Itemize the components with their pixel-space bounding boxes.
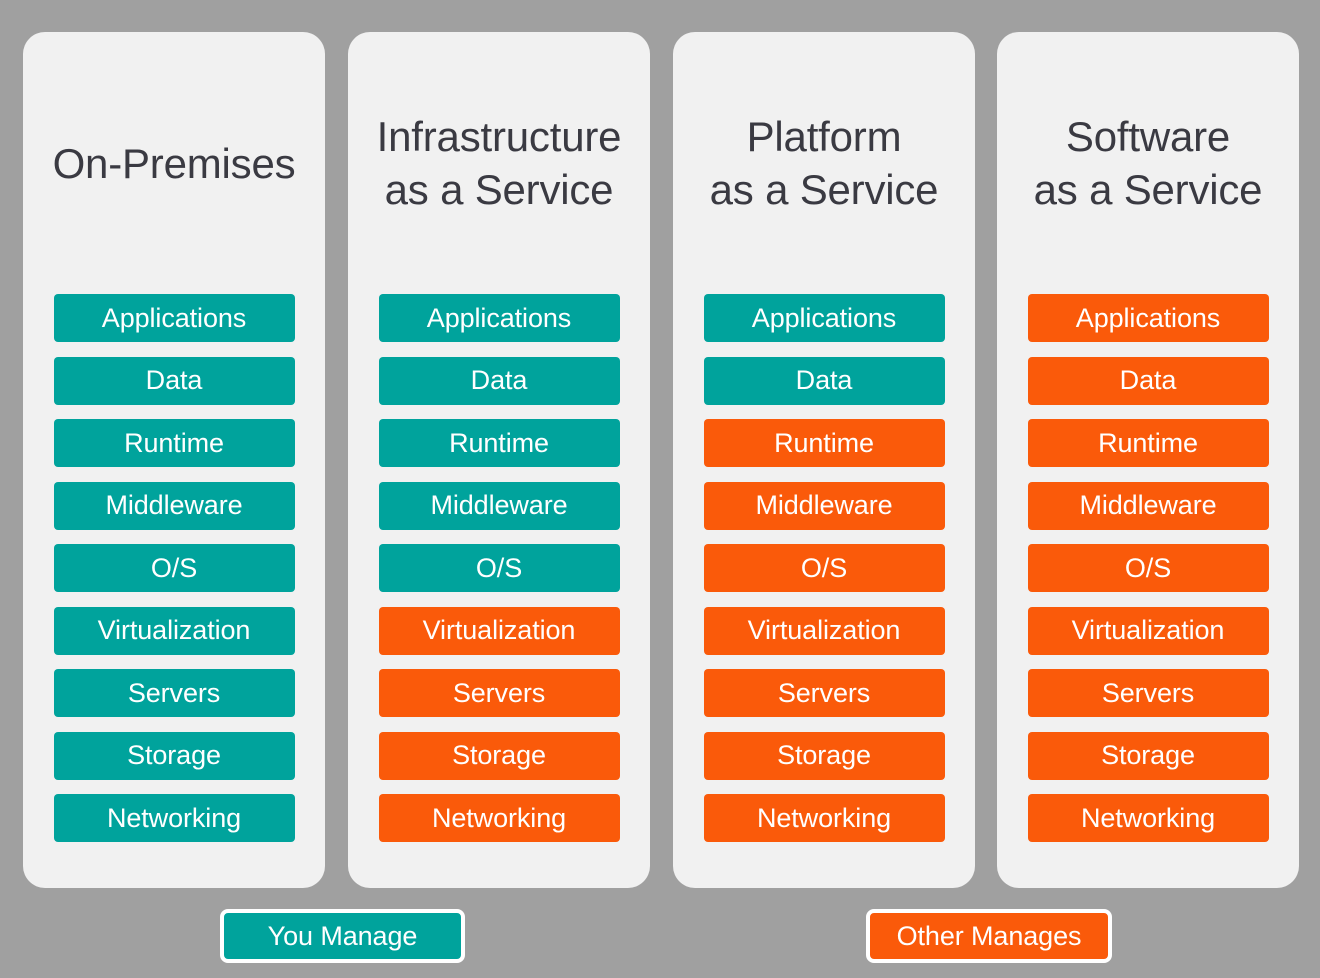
layer-bar: Middleware: [379, 482, 620, 530]
service-model-card-infrastructure-as-a-service: Infrastructureas a ServiceApplicationsDa…: [348, 32, 650, 888]
layer-bar: Applications: [54, 294, 295, 342]
card-title-software-as-a-service: Softwareas a Service: [997, 32, 1299, 294]
layer-bar: Runtime: [1028, 419, 1269, 467]
layer-bar: Networking: [704, 794, 945, 842]
layer-bar: Networking: [54, 794, 295, 842]
layer-bar: Middleware: [1028, 482, 1269, 530]
layer-bar: Data: [379, 357, 620, 405]
layer-stack-platform-as-a-service: ApplicationsDataRuntimeMiddlewareO/SVirt…: [673, 294, 975, 842]
layer-bar: Virtualization: [379, 607, 620, 655]
layer-bar: Servers: [1028, 669, 1269, 717]
layer-bar: O/S: [704, 544, 945, 592]
layer-bar: Networking: [1028, 794, 1269, 842]
layer-bar: Storage: [1028, 732, 1269, 780]
card-title-line: as a Service: [710, 163, 939, 216]
card-title-platform-as-a-service: Platformas a Service: [673, 32, 975, 294]
layer-bar: Networking: [379, 794, 620, 842]
layer-bar: Servers: [379, 669, 620, 717]
service-model-card-on-premises: On-PremisesApplicationsDataRuntimeMiddle…: [23, 32, 325, 888]
legend-you-manage: You Manage: [220, 909, 465, 963]
card-title-line: Infrastructure: [377, 110, 622, 163]
layer-bar: Data: [704, 357, 945, 405]
service-model-card-platform-as-a-service: Platformas a ServiceApplicationsDataRunt…: [673, 32, 975, 888]
layer-bar: Runtime: [379, 419, 620, 467]
layer-stack-infrastructure-as-a-service: ApplicationsDataRuntimeMiddlewareO/SVirt…: [348, 294, 650, 842]
layer-bar: Applications: [379, 294, 620, 342]
card-title-line: Software: [1066, 110, 1230, 163]
layer-bar: O/S: [54, 544, 295, 592]
layer-bar: Applications: [704, 294, 945, 342]
layer-bar: Runtime: [54, 419, 295, 467]
layer-bar: Servers: [704, 669, 945, 717]
layer-bar: Middleware: [54, 482, 295, 530]
layer-bar: Middleware: [704, 482, 945, 530]
layer-bar: Data: [1028, 357, 1269, 405]
layer-bar: Virtualization: [704, 607, 945, 655]
layer-bar: Virtualization: [1028, 607, 1269, 655]
layer-bar: O/S: [379, 544, 620, 592]
service-model-card-software-as-a-service: Softwareas a ServiceApplicationsDataRunt…: [997, 32, 1299, 888]
card-title-infrastructure-as-a-service: Infrastructureas a Service: [348, 32, 650, 294]
layer-bar: Virtualization: [54, 607, 295, 655]
card-title-line: as a Service: [1034, 163, 1263, 216]
card-title-line: Platform: [747, 110, 902, 163]
card-title-line: as a Service: [385, 163, 614, 216]
layer-bar: Servers: [54, 669, 295, 717]
service-models-diagram: Softwareas a ServiceApplicationsDataRunt…: [0, 0, 1320, 978]
layer-bar: Storage: [704, 732, 945, 780]
card-title-line: On-Premises: [53, 137, 296, 190]
layer-bar: O/S: [1028, 544, 1269, 592]
layer-bar: Storage: [54, 732, 295, 780]
layer-bar: Runtime: [704, 419, 945, 467]
layer-bar: Storage: [379, 732, 620, 780]
layer-stack-on-premises: ApplicationsDataRuntimeMiddlewareO/SVirt…: [23, 294, 325, 842]
card-title-on-premises: On-Premises: [23, 32, 325, 294]
layer-stack-software-as-a-service: ApplicationsDataRuntimeMiddlewareO/SVirt…: [997, 294, 1299, 842]
layer-bar: Data: [54, 357, 295, 405]
legend-other-manages: Other Manages: [866, 909, 1112, 963]
layer-bar: Applications: [1028, 294, 1269, 342]
